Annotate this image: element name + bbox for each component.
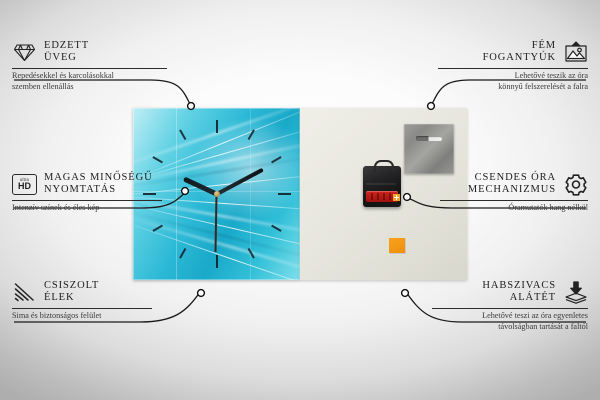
callout-title-line1: CSENDES ÓRA <box>468 172 556 184</box>
callout-desc-line1: Óramutatók hang nélkül <box>440 203 588 213</box>
callout-divider <box>12 200 162 201</box>
connector-endpoint <box>402 290 409 297</box>
foam-spacer-pad <box>389 238 405 253</box>
callout-desc-line2: szemben ellenállás <box>12 82 172 92</box>
badge-large-label: HD <box>18 182 31 191</box>
callout-desc-line1: Intenzív színek és éles kép <box>12 203 174 213</box>
callout-metal-handles: FÉM FOGANTYÚK Lehetővé teszik az óra kön… <box>438 40 588 92</box>
callout-title-line2: MECHANIZMUS <box>468 184 556 196</box>
callout-divider <box>440 200 588 201</box>
ultra-hd-badge-icon: ultra HD <box>12 172 37 196</box>
connector-endpoint <box>198 290 205 297</box>
callout-divider <box>432 308 588 309</box>
callout-title-line1: FÉM <box>483 40 556 52</box>
mechanism-seam <box>366 183 396 185</box>
battery-plus-icon <box>393 194 400 201</box>
clock-mechanism <box>363 166 401 207</box>
product-image <box>133 108 467 280</box>
callout-desc-line1: Repedésekkel és karcolásokkal <box>12 71 172 81</box>
callout-divider <box>12 68 167 69</box>
callout-desc-line1: Sima és biztonságos felület <box>12 311 160 321</box>
callout-divider <box>438 68 588 69</box>
callout-polished-edges: CSISZOLT ÉLEK Sima és biztonságos felüle… <box>12 280 160 322</box>
callout-title-line2: FOGANTYÚK <box>483 52 556 64</box>
callout-desc-line1: Lehetővé teszik az óra <box>438 71 588 81</box>
gear-icon <box>563 172 588 196</box>
mechanism-hook <box>374 160 394 172</box>
callout-title-line2: NYOMTATÁS <box>44 184 153 196</box>
callout-tempered-glass: EDZETT ÜVEG Repedésekkel és karcolásokka… <box>12 40 172 92</box>
callout-divider <box>12 308 152 309</box>
callout-silent-mechanism: CSENDES ÓRA MECHANIZMUS Óramutatók hang … <box>440 172 588 214</box>
callout-title-line2: ÉLEK <box>44 292 99 304</box>
diamond-icon <box>12 40 37 64</box>
hanger-slot <box>416 136 442 141</box>
picture-hanger-icon <box>563 40 588 64</box>
battery <box>366 191 398 202</box>
press-down-pad-icon <box>563 280 588 304</box>
callout-desc-line2: távolságban tartását a faltól <box>432 322 588 332</box>
callout-title-line1: HABSZIVACS <box>482 280 556 292</box>
callout-title-line1: MAGAS MINŐSÉGŰ <box>44 172 153 184</box>
callout-title-line1: EDZETT <box>44 40 89 52</box>
callout-high-quality-print: ultra HD MAGAS MINŐSÉGŰ NYOMTATÁS Intenz… <box>12 172 174 214</box>
metal-hanger-plate <box>404 124 454 174</box>
callout-desc-line1: Lehetővé teszi az óra egyenletes <box>432 311 588 321</box>
callout-title-line1: CSISZOLT <box>44 280 99 292</box>
callout-title-line2: ALÁTÉT <box>482 292 556 304</box>
callout-foam-pad: HABSZIVACS ALÁTÉT Lehetővé teszi az óra … <box>432 280 588 332</box>
callout-desc-line2: könnyű felszerelését a falra <box>438 82 588 92</box>
infographic-canvas: EDZETT ÜVEG Repedésekkel és karcolásokka… <box>0 0 600 400</box>
callout-title-line2: ÜVEG <box>44 52 89 64</box>
polished-edge-icon <box>12 280 37 304</box>
